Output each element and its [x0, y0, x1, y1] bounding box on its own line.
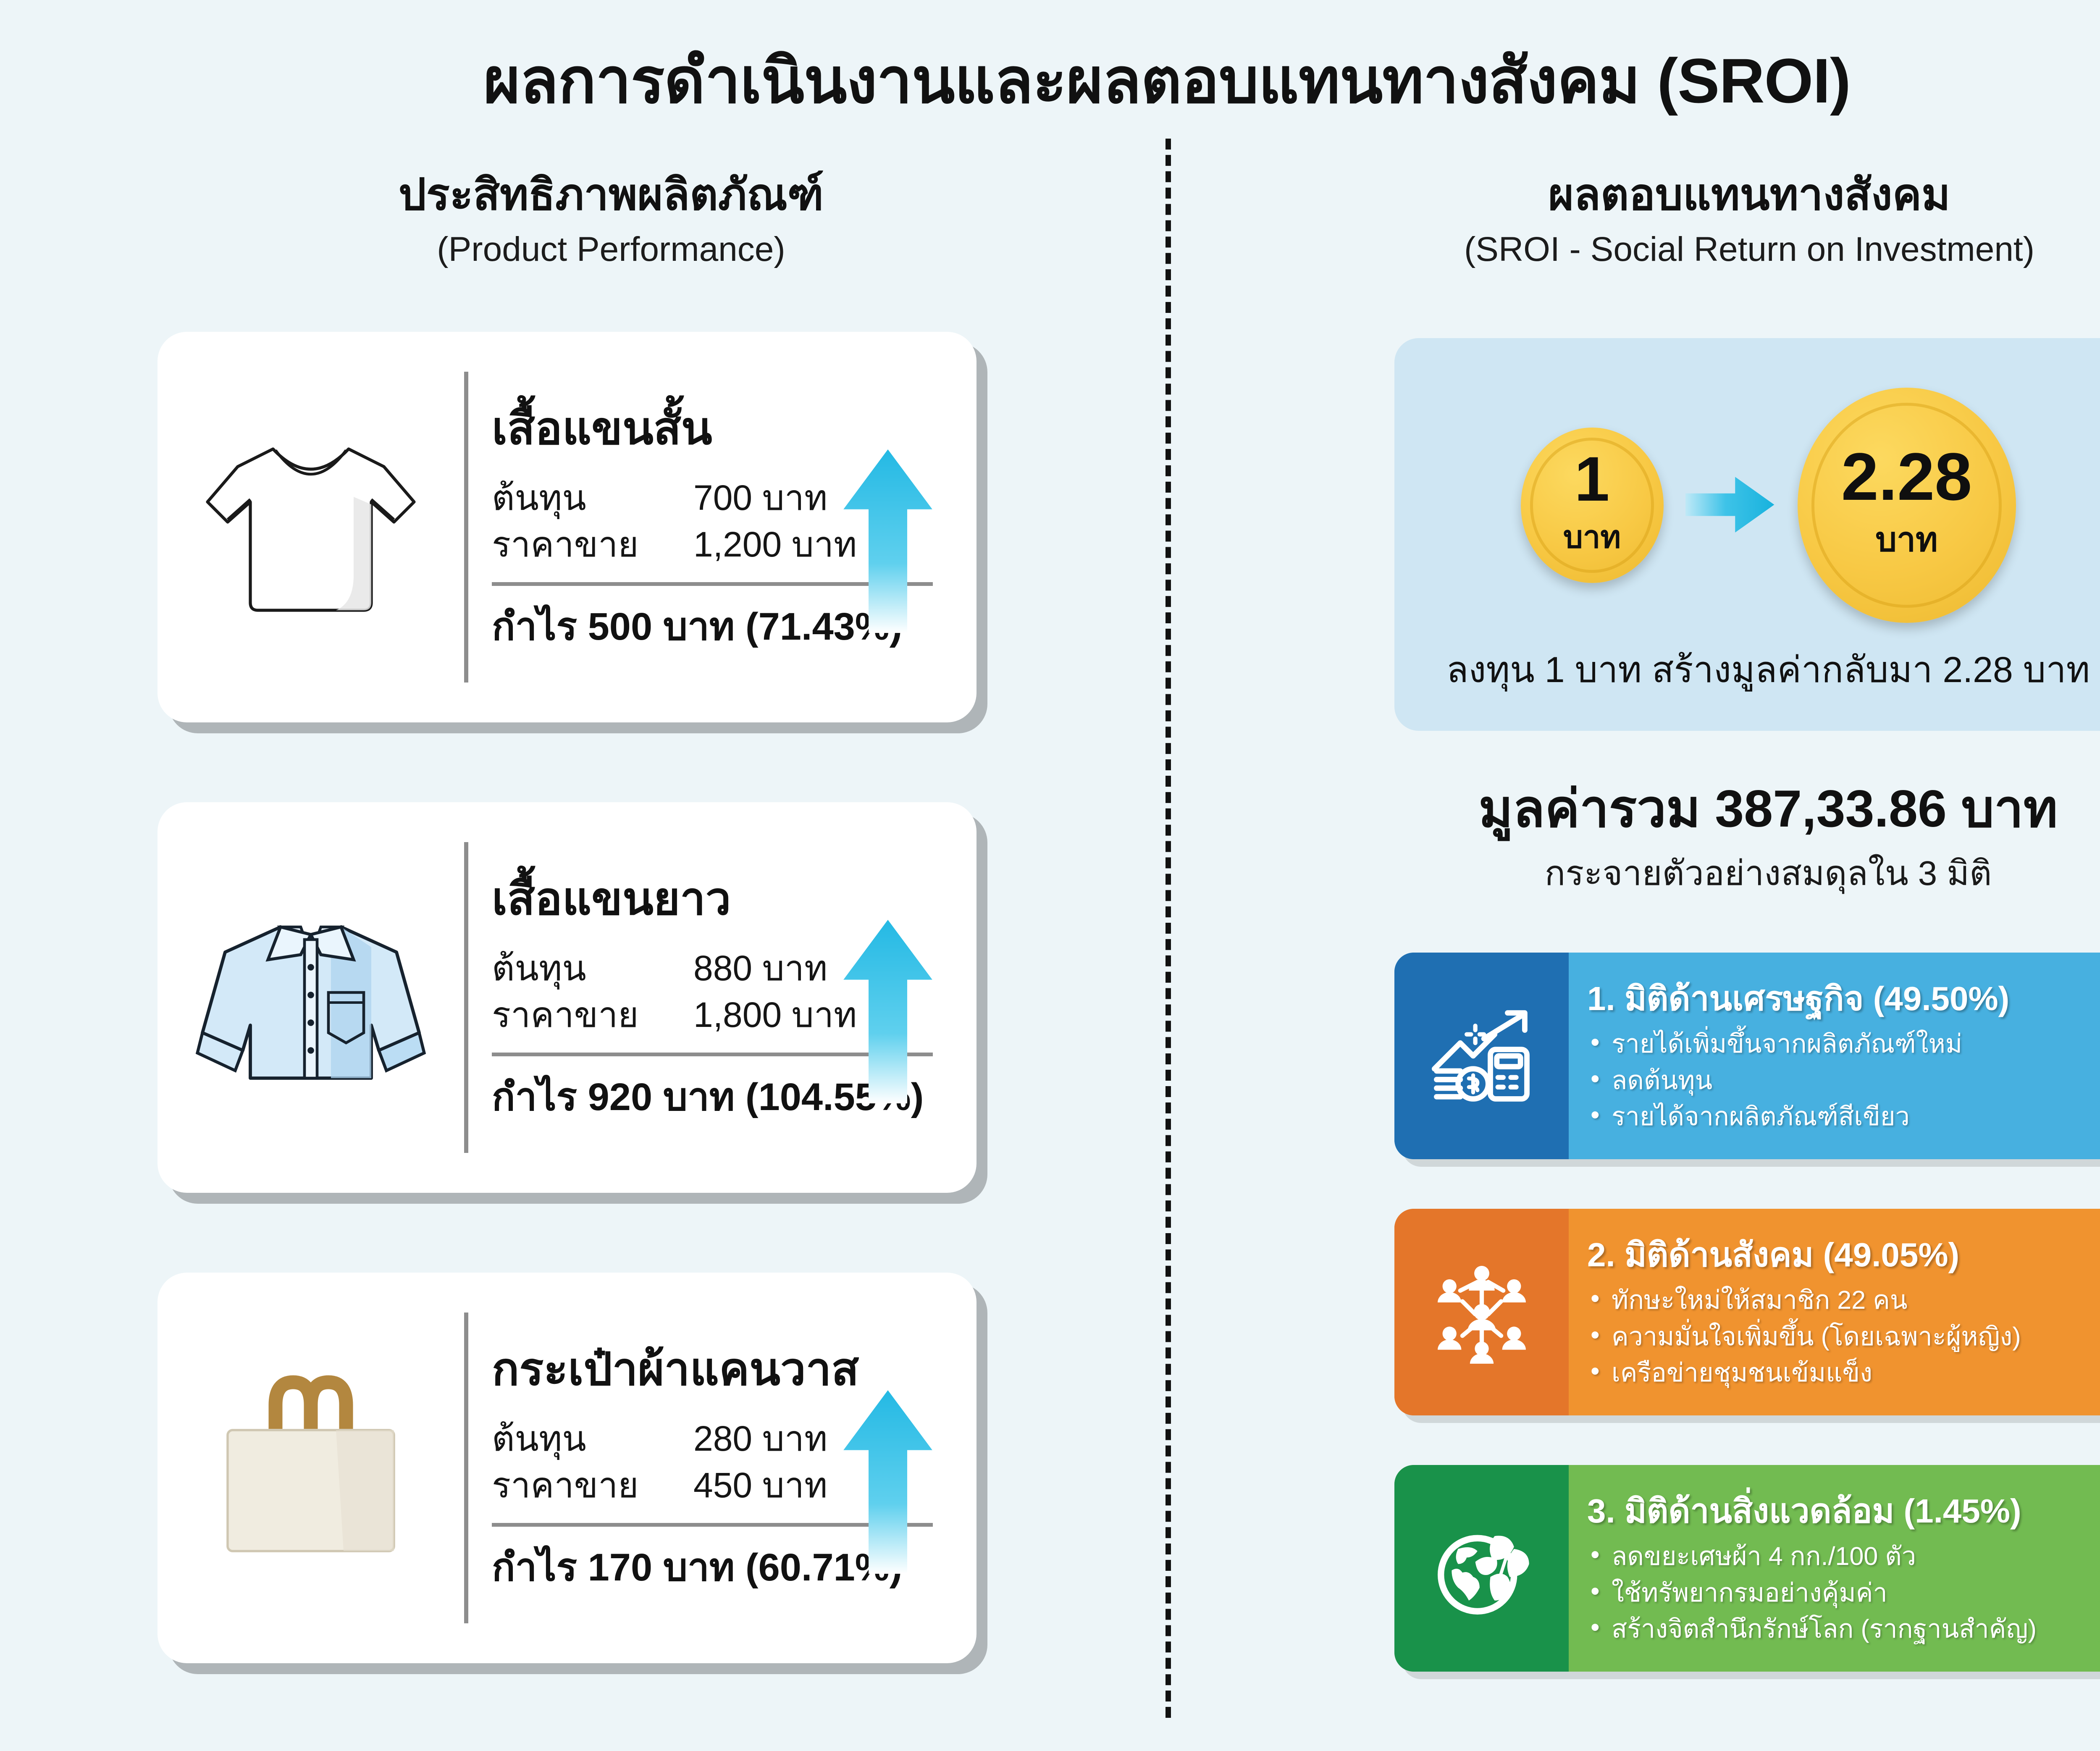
- dimension-body: 1. มิติด้านเศรษฐกิจ (49.50%) รายได้เพิ่ม…: [1569, 953, 2100, 1159]
- left-heading-en: (Product Performance): [122, 227, 1100, 272]
- right-heading-en: (SROI - Social Return on Investment): [1231, 227, 2100, 272]
- coin-panel-caption: ลงทุน 1 บาท สร้างมูลค่ากลับมา 2.28 บาท: [1394, 641, 2100, 698]
- right-heading-th: ผลตอบแทนทางสังคม: [1231, 170, 2100, 221]
- price-value: 450 บาท: [693, 1462, 827, 1509]
- card-rule: [464, 842, 468, 1153]
- dimension-body: 3. มิติด้านสิ่งแวดล้อม (1.45%) ลดขยะเศษผ…: [1569, 1465, 2100, 1672]
- product-card[interactable]: เสื้อแขนยาว ต้นทุน 880 บาท ราคาขาย 1,800…: [157, 802, 976, 1193]
- product-name: เสื้อแขนสั้น: [492, 406, 951, 451]
- price-label: ราคาขาย: [492, 1462, 693, 1509]
- list-item: ใช้ทรัพยากรมอย่างคุ้มค่า: [1587, 1575, 2100, 1611]
- left-heading-th: ประสิทธิภาพผลิตภัณฑ์: [122, 170, 1100, 221]
- price-label: ราคาขาย: [492, 992, 693, 1038]
- cost-label: ต้นทุน: [492, 475, 693, 521]
- product-name: กระเป๋าผ้าแคนวาส: [492, 1347, 951, 1392]
- coin-in-amount: 1: [1575, 449, 1609, 509]
- right-column-heading: ผลตอบแทนทางสังคม (SROI - Social Return o…: [1231, 170, 2100, 272]
- dimension-title: 2. มิติด้านสังคม (49.05%): [1587, 1236, 2100, 1273]
- dimension-list: 1. มิติด้านเศรษฐกิจ (49.50%) รายได้เพิ่ม…: [1394, 953, 2100, 1721]
- cost-label: ต้นทุน: [492, 1415, 693, 1462]
- dimension-card-economic[interactable]: 1. มิติด้านเศรษฐกิจ (49.50%) รายได้เพิ่ม…: [1394, 953, 2100, 1159]
- infographic-page: ผลการดำเนินงานและผลตอบแทนทางสังคม (SROI)…: [0, 0, 2100, 1751]
- coin-in-unit: บาท: [1563, 512, 1621, 562]
- product-card-list: เสื้อแขนสั้น ต้นทุน 700 บาท ราคาขาย 1,20…: [157, 332, 997, 1743]
- product-card[interactable]: กระเป๋าผ้าแคนวาส ต้นทุน 280 บาท ราคาขาย …: [157, 1273, 976, 1663]
- page-header: ผลการดำเนินงานและผลตอบแทนทางสังคม (SROI): [0, 46, 2100, 116]
- product-name: เสื้อแขนยาว: [492, 876, 951, 921]
- dimension-bullet-list: รายได้เพิ่มขึ้นจากผลิตภัณฑ์ใหม่ ลดต้นทุน…: [1587, 1026, 2100, 1135]
- list-item: ทักษะใหม่ให้สมาชิก 22 คน: [1587, 1282, 2100, 1318]
- people-network-icon: [1394, 1209, 1569, 1415]
- cost-value: 280 บาท: [693, 1415, 827, 1462]
- product-info: เสื้อแขนยาว ต้นทุน 880 บาท ราคาขาย 1,800…: [468, 802, 976, 1193]
- list-item: เครือข่ายชุมชนเข้มแข็ง: [1587, 1355, 2100, 1391]
- up-arrow-icon: [840, 1390, 936, 1575]
- column-divider: [1165, 139, 1171, 1718]
- long-sleeve-shirt-icon: [157, 802, 464, 1193]
- total-value-block: มูลค่ารวม 387,33.86 บาท กระจายตัวอย่างสม…: [1394, 780, 2100, 900]
- card-rule: [464, 1313, 468, 1623]
- page-title: ผลการดำเนินงานและผลตอบแทนทางสังคม (SROI): [0, 46, 2100, 116]
- sroi-coin-panel: 1 บาท 2.28 บาท ลงทุน 1 บาท สร้างมูลค่ากล…: [1394, 338, 2100, 731]
- up-arrow-icon: [840, 449, 936, 634]
- tote-bag-icon: [157, 1273, 464, 1663]
- list-item: ลดขยะเศษผ้า 4 กก./100 ตัว: [1587, 1538, 2100, 1575]
- tshirt-icon: [157, 332, 464, 722]
- product-card[interactable]: เสื้อแขนสั้น ต้นทุน 700 บาท ราคาขาย 1,20…: [157, 332, 976, 722]
- right-arrow-icon: [1685, 471, 1776, 540]
- list-item: รายได้จากผลิตภัณฑ์สีเขียว: [1587, 1098, 2100, 1135]
- coin-return: 2.28 บาท: [1798, 388, 2016, 623]
- product-info: เสื้อแขนสั้น ต้นทุน 700 บาท ราคาขาย 1,20…: [468, 332, 976, 722]
- dimension-body: 2. มิติด้านสังคม (49.05%) ทักษะใหม่ให้สม…: [1569, 1209, 2100, 1415]
- up-arrow-icon: [840, 920, 936, 1105]
- dimension-bullet-list: ลดขยะเศษผ้า 4 กก./100 ตัว ใช้ทรัพยากรมอย…: [1587, 1538, 2100, 1647]
- coin-out-amount: 2.28: [1841, 445, 1972, 509]
- price-value: 1,200 บาท: [693, 521, 857, 568]
- cost-label: ต้นทุน: [492, 945, 693, 992]
- cost-value: 880 บาท: [693, 945, 827, 992]
- coin-investment: 1 บาท: [1521, 428, 1664, 583]
- cost-value: 700 บาท: [693, 475, 827, 521]
- card-rule: [464, 372, 468, 683]
- coin-comparison-row: 1 บาท 2.28 บาท: [1394, 375, 2100, 635]
- left-column-heading: ประสิทธิภาพผลิตภัณฑ์ (Product Performanc…: [122, 170, 1100, 272]
- price-label: ราคาขาย: [492, 521, 693, 568]
- price-value: 1,800 บาท: [693, 992, 857, 1038]
- total-sub-line: กระจายตัวอย่างสมดุลใน 3 มิติ: [1394, 846, 2100, 900]
- dimension-title: 1. มิติด้านเศรษฐกิจ (49.50%): [1587, 980, 2100, 1017]
- dimension-title: 3. มิติด้านสิ่งแวดล้อม (1.45%): [1587, 1493, 2100, 1530]
- economic-growth-icon: [1394, 953, 1569, 1159]
- list-item: ลดต้นทุน: [1587, 1062, 2100, 1099]
- coin-out-unit: บาท: [1875, 513, 1937, 566]
- product-info: กระเป๋าผ้าแคนวาส ต้นทุน 280 บาท ราคาขาย …: [468, 1273, 976, 1663]
- dimension-bullet-list: ทักษะใหม่ให้สมาชิก 22 คน ความมั่นใจเพิ่ม…: [1587, 1282, 2100, 1391]
- total-value-line: มูลค่ารวม 387,33.86 บาท: [1394, 780, 2100, 837]
- globe-leaf-icon: [1394, 1465, 1569, 1672]
- dimension-card-environment[interactable]: 3. มิติด้านสิ่งแวดล้อม (1.45%) ลดขยะเศษผ…: [1394, 1465, 2100, 1672]
- list-item: ความมั่นใจเพิ่มขึ้น (โดยเฉพาะผู้หญิง): [1587, 1318, 2100, 1355]
- list-item: รายได้เพิ่มขึ้นจากผลิตภัณฑ์ใหม่: [1587, 1026, 2100, 1062]
- dimension-card-social[interactable]: 2. มิติด้านสังคม (49.05%) ทักษะใหม่ให้สม…: [1394, 1209, 2100, 1415]
- list-item: สร้างจิตสำนึกรักษ์โลก (รากฐานสำคัญ): [1587, 1611, 2100, 1647]
